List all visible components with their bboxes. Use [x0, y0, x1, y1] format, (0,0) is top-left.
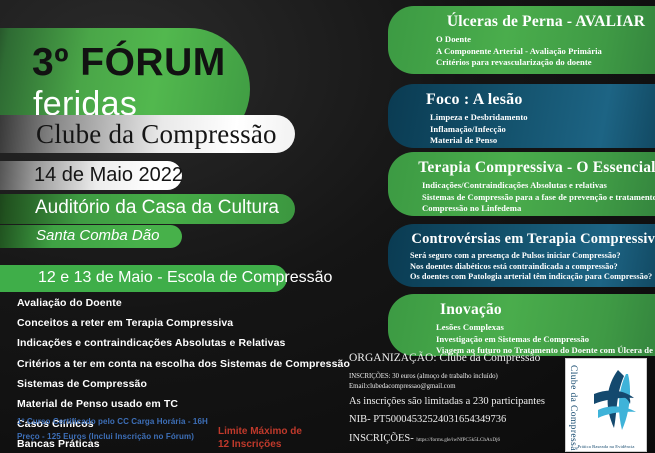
list-item: Indicações/Contraindicações Absolutas e …	[388, 180, 655, 190]
compression-swoosh-icon	[584, 366, 644, 436]
list-item: Investigação em Sistemas de Compressão	[388, 334, 655, 344]
club-logo: Clube da Compressão Prática Baseada na E…	[565, 358, 647, 452]
registration-limit-badge: Limite Máximo de 12 Inscrições	[218, 426, 302, 451]
nib-line: NIB- PT50004532524031654349736	[349, 414, 589, 425]
list-item: A Componente Arterial - Avaliação Primár…	[388, 46, 655, 56]
limit-line2: 12 Inscrições	[218, 439, 302, 452]
email-line: Email:clubedacompressao@gmail.com	[349, 382, 589, 391]
list-item: Nos doentes diabéticos está contraindica…	[388, 262, 655, 271]
list-item: Material de Penso	[388, 135, 655, 145]
limit-line1: Limite Máximo de	[218, 426, 302, 439]
list-item: Lesões Complexas	[388, 322, 655, 332]
list-item: Limpeza e Desbridamento	[388, 112, 655, 122]
panel-title: Inovação	[388, 301, 655, 319]
list-item: Será seguro com a presença de Pulsos ini…	[388, 251, 655, 260]
list-item: Indicações e contraindicações Absolutas …	[17, 337, 347, 349]
logo-vertical-text: Clube da Compressão	[568, 365, 578, 452]
panel-title: Controvérsias em Terapia Compressiva	[388, 231, 655, 248]
list-item: Inflamação/Infecção	[388, 124, 655, 134]
topic-panel-controversias: Controvérsias em Terapia Compressiva Ser…	[388, 224, 655, 287]
footer-info: ORGANIZAÇÃO: Clube da Compressão INSCRIÇ…	[349, 352, 589, 444]
poster-subtitle: Clube da Compressão	[36, 119, 277, 150]
logo-tagline: Prática Baseada na Evidência	[566, 444, 646, 449]
panel-title: Foco : A lesão	[388, 91, 655, 109]
forum-title-line1: 3º FÓRUM	[32, 41, 226, 85]
topic-panel-ulceras: Úlceras de Perna - AVALIAR O Doente A Co…	[388, 6, 655, 74]
certification-note: 1º Curso Certificado pelo CC Carga Horár…	[17, 417, 208, 426]
participant-limit-line: As inscrições são limitadas a 230 partic…	[349, 396, 589, 407]
panel-title: Úlceras de Perna - AVALIAR	[388, 13, 655, 31]
left-column: 3º FÓRUM feridas Clube da Compressão 14 …	[0, 0, 352, 453]
list-item: Critérios a ter em conta na escolha dos …	[17, 358, 347, 370]
list-item: Critérios para revascularização do doent…	[388, 57, 655, 67]
school-banner-label: 12 e 13 de Maio - Escola de Compressão	[38, 269, 332, 287]
price-note: Preço - 125 Euros (Inclui Inscrição no F…	[17, 432, 194, 441]
poster-city: Santa Comba Dão	[36, 227, 159, 244]
list-item: O Doente	[388, 34, 655, 44]
list-item: Material de Penso usado em TC	[17, 398, 347, 410]
registration-url-link[interactable]: https://forms.gle/iwNfPC5k5LChAxDj6	[416, 437, 500, 443]
poster-date: 14 de Maio 2022	[34, 164, 183, 187]
poster-canvas: 3º FÓRUM feridas Clube da Compressão 14 …	[0, 0, 655, 453]
list-item: Sistemas de Compressão para a fase de pr…	[388, 192, 655, 202]
list-item: Avaliação do Doente	[17, 297, 347, 309]
organization-line: ORGANIZAÇÃO: Clube da Compressão	[349, 352, 589, 364]
list-item: Compressão no Linfedema	[388, 203, 655, 213]
list-item: Os doentes com Patologia arterial têm in…	[388, 272, 655, 281]
registration-label: INSCRIÇÕES-	[349, 433, 414, 444]
list-item: Conceitos a reter em Terapia Compressiva	[17, 317, 347, 329]
topic-panel-foco: Foco : A lesão Limpeza e Desbridamento I…	[388, 84, 655, 148]
registration-line: INSCRIÇÕES- https://forms.gle/iwNfPC5k5L…	[349, 433, 589, 444]
list-item: Sistemas de Compressão	[17, 378, 347, 390]
topic-panel-terapia: Terapia Compressiva - O Essencial Indica…	[388, 152, 655, 216]
fee-line: INSCRIÇÕES: 30 euros (almoço de trabalho…	[349, 372, 589, 381]
poster-venue: Auditório da Casa da Cultura	[35, 197, 279, 219]
panel-title: Terapia Compressiva - O Essencial	[388, 159, 655, 177]
topic-panel-inovacao: Inovação Lesões Complexas Investigação e…	[388, 294, 655, 356]
